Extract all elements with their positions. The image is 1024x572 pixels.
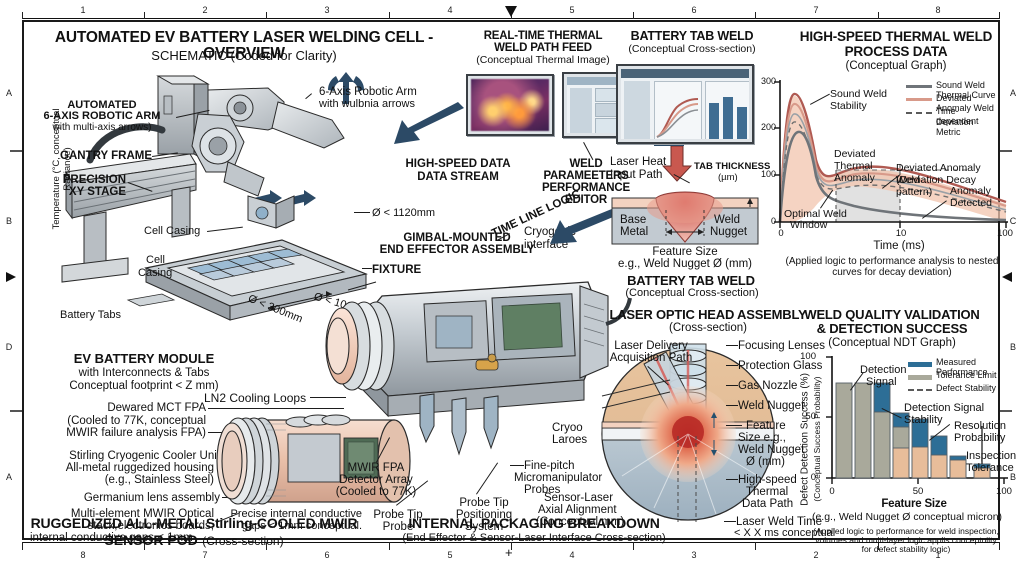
label-laser-heat-1: Laser Heat: [610, 156, 666, 168]
ruler-bottom-mark-5: 5: [437, 550, 463, 560]
ruler-bottom-mark-3: 3: [681, 550, 707, 560]
quality-chart-xlabel: Feature Size: [814, 498, 1014, 510]
callout-probe-tip-2: Probe Tip: [436, 497, 532, 509]
quality-x-tick-0: 0: [825, 486, 839, 497]
sensor-pod-title-l1: RUGGEDIZED ALL-METAL Stirling-COOLED MWI…: [24, 516, 364, 531]
internal-packaging-subtitle: (End Effector & Sensor-Laser Interface C…: [354, 533, 714, 545]
label-thermal: Thermal: [746, 486, 788, 498]
callout-laroes: Laroes: [552, 434, 587, 446]
quality-chart-xlabel-sub: (e.g., Weld Nugget Ø conceptual micron): [794, 511, 1020, 523]
ev-battery-module-line1: with Interconnects & Tabs: [48, 367, 240, 379]
tab-weld-data-screen[interactable]: [616, 64, 754, 144]
thermal-legend-swatch-sound: [906, 85, 932, 88]
thermal-legend-swatch-timedep: [906, 112, 932, 114]
internal-packaging-title: INTERNAL PACKAGING BREAKDOWN: [364, 516, 704, 531]
thermal-x-tick-10: 10: [892, 228, 910, 239]
label-laser-delivery-1: Laser Delivery: [598, 340, 704, 352]
quality-anno-inspection-1: Inspection: [966, 450, 1016, 462]
ruler-top-mark-1: 1: [70, 5, 96, 15]
quality-chart-caption-l3: for defect stability logic): [786, 544, 1024, 554]
label-feature-size-1: Feature Size: [610, 246, 760, 258]
tab-weld-caption-title: BATTERY TAB WELD: [608, 274, 774, 288]
ruler-left-mark-A1: A: [0, 88, 18, 98]
tab-weld-screen-content: [621, 69, 749, 139]
ruler-top-mark-3: 3: [314, 5, 340, 15]
quality-legend-swatch-tolerance: [908, 375, 932, 380]
thermal-y-tick-200: 200: [754, 122, 776, 132]
label-nugget-diameter: Ø (mm): [746, 456, 785, 468]
callout-stirling-cooler: Stirling Cryogenic Cooler Unit: [24, 450, 220, 462]
center-marker-bottom: +: [505, 548, 513, 558]
ruler-top-mark-5: 5: [559, 5, 585, 15]
label-base-metal-1: Base: [620, 214, 646, 226]
thermal-anno-stability: Stability: [830, 100, 867, 112]
thermal-legend-swatch-deviated: [906, 98, 932, 101]
callout-cell-casing-1: Cell Casing: [144, 226, 200, 238]
thermal-legend-timedep-2: Deviation Metric: [936, 117, 998, 137]
leader-protection-glass: [726, 365, 738, 366]
label-data-path: Data Path: [742, 498, 793, 510]
quality-chart-title-l1: WELD QUALITY VALIDATION: [784, 308, 1000, 322]
thermal-anno-deviated: Deviated: [834, 148, 875, 160]
tab-weld-title: BATTERY TAB WELD: [608, 30, 776, 43]
callout-micromanipulator: Micromanipulator: [514, 472, 602, 484]
ruler-bottom-mark-6: 6: [314, 550, 340, 560]
callout-gantry-frame: GANTRY FRAME: [60, 150, 152, 162]
callout-all-metal-housing: All-metal ruggedized housing: [24, 462, 214, 474]
thermal-feed-title-l1: REAL-TIME THERMAL: [464, 30, 622, 42]
quality-x-tick-100: 100: [993, 486, 1015, 497]
label-size-eg: Size e.g.,: [738, 432, 786, 444]
quality-anno-detection-1: Detection: [860, 364, 906, 376]
sensor-pod-title-l2-sub: (Cross-section): [202, 534, 283, 548]
quality-y-tick-100: 100: [794, 351, 816, 362]
leader-gas-nozzle: [726, 385, 738, 386]
ruler-bottom-mark-4: 4: [559, 550, 585, 560]
ruler-left-mark-B: B: [0, 216, 18, 226]
leader-focusing-lenses: [726, 345, 738, 346]
callout-fine-pitch: Fine-pitch: [524, 460, 575, 472]
quality-chart-subtitle: (Conceptual NDT Graph): [784, 337, 1000, 349]
thermal-y-tick-300: 300: [754, 76, 776, 86]
thermal-x-tick-100: 100: [994, 228, 1016, 239]
leader-weld-nugget-optic: [726, 405, 738, 406]
leader-laser-weld-time: [724, 521, 736, 522]
drawing-sheet: 1 2 3 4 5 6 7 8 8 7 6 5 4 3 2 1 + A B D …: [0, 0, 1024, 572]
ruler-top: 1 2 3 4 5 6 7 8: [22, 0, 1000, 20]
thermal-chart-title-l2: PROCESS DATA: [792, 45, 1000, 59]
callout-stainless-steel: (e.g., Stainless Steel): [24, 474, 214, 486]
thermal-chart-title-l1: HIGH-SPEED THERMAL WELD: [792, 30, 1000, 44]
ruler-left-mark-D: D: [0, 342, 18, 352]
label-base-metal-2: Metal: [620, 226, 648, 238]
thermal-chart-caption-l2: curves for decay deviation): [764, 267, 1020, 278]
center-marker-left: [6, 272, 16, 282]
thermal-anno-thermal: Thermal: [834, 160, 873, 172]
tab-weld-subtitle: (Conceptual Cross-section): [598, 44, 786, 55]
ruler-top-mark-2: 2: [192, 5, 218, 15]
label-weld-nugget-2: Nugget: [710, 226, 747, 238]
quality-y-tick-50: 50: [794, 411, 816, 422]
thermal-feed-subtitle: (Conceptual Thermal Image): [456, 55, 630, 66]
quality-legend-tolerance: Tolerance Limit: [936, 370, 997, 380]
callout-battery-tabs: Battery Tabs: [60, 310, 121, 322]
ruler-right-mark-B1: B: [1004, 342, 1022, 352]
ruler-bottom-mark-8: 8: [70, 550, 96, 560]
quality-anno-resolution-2: Probability: [954, 432, 1005, 444]
quality-anno-resolution-1: Resolution: [954, 420, 1006, 432]
label-weld-nugget-2-optic: Weld Nugget: [738, 444, 804, 456]
callout-detector-array: Detector Array: [316, 474, 436, 486]
label-laser-delivery-2: Acquisition Path: [598, 352, 704, 364]
callout-dewared-mct-fpa: Dewared MCT FPA: [58, 402, 206, 414]
callout-germanium-lens: Germanium lens assembly: [24, 492, 220, 504]
quality-chart-ylabel: Defect Detection Success (%): [800, 360, 811, 520]
diagram-frame: AUTOMATED EV BATTERY LASER WELDING CELL …: [22, 20, 1000, 540]
thermal-anno-optimal-2: Window: [790, 219, 827, 231]
ruler-bottom-mark-7: 7: [192, 550, 218, 560]
quality-legend-defect: Defect Stability: [936, 383, 996, 393]
quality-legend-swatch-measured: [908, 362, 932, 367]
ruler-top-mark-8: 8: [925, 5, 951, 15]
ruler-top-mark-4: 4: [437, 5, 463, 15]
quality-anno-detection-2: Signal: [866, 376, 897, 388]
callout-mwir-fpa: MWIR FPA: [316, 462, 436, 474]
callout-cell: Cell: [146, 255, 165, 267]
overview-subtitle: SCHEMATIC (Coded for Clarity): [28, 49, 460, 63]
ruler-left-mark-A2: A: [0, 472, 18, 482]
thermal-anno-anomaly: Anomaly: [834, 172, 875, 184]
callout-cryoo: Cryoo: [552, 422, 583, 434]
thermal-anno-detected-1: Anomaly: [950, 185, 991, 197]
thermal-anno-sound-weld: Sound Weld: [830, 88, 887, 100]
thermal-chart-subtitle: (Conceptual Graph): [792, 60, 1000, 72]
quality-chart-title-l2: & DETECTION SUCCESS: [784, 322, 1000, 336]
leader-high-speed-path: [726, 479, 738, 480]
ruler-left: A B D A: [0, 20, 22, 540]
thermal-y-tick-100: 100: [754, 169, 776, 179]
thermal-chart-xlabel: Time (ms): [784, 240, 1014, 252]
ruler-top-mark-6: 6: [681, 5, 707, 15]
label-high-speed: High-speed: [738, 474, 797, 486]
center-marker-top: [505, 6, 517, 17]
label-sensor-laser-1: Sensor-Laser: [544, 492, 613, 504]
quality-x-tick-50: 50: [911, 486, 925, 497]
thermal-anno-detected-2: Detected: [950, 197, 992, 209]
leader-feature-size-optic: [726, 425, 742, 426]
callout-casing: Casing: [138, 268, 172, 280]
sensor-pod-title-l2: SENSOR POD: [104, 532, 197, 548]
callout-mwir-failure: MWIR failure analysis FPA): [38, 427, 206, 439]
thermal-chart-caption-l1: (Applied logic to performance analysis t…: [764, 256, 1020, 267]
label-gas-nozzle: Gas Nozzle: [738, 380, 797, 392]
thermal-y-tick-0: 0: [754, 216, 776, 226]
thermal-chart-ylabel: Temperature (°C, conceptual Radiance): [51, 94, 73, 244]
thermal-x-tick-0: 0: [774, 228, 788, 239]
tab-weld-caption-sub: (Conceptual Cross-section): [598, 288, 786, 300]
label-feature-size-2: e.g., Weld Nugget Ø (mm): [602, 258, 768, 270]
quality-y-tick-0: 0: [794, 472, 816, 483]
quality-legend-swatch-defect: [908, 389, 932, 391]
label-feature: Feature: [746, 420, 786, 432]
label-weld-nugget-1: Weld: [714, 214, 740, 226]
ev-battery-module-title: EV BATTERY MODULE: [48, 352, 240, 366]
ruler-top-mark-7: 7: [803, 5, 829, 15]
leader-fine-pitch: [510, 465, 524, 466]
quality-anno-inspection-2: Tolerance: [966, 462, 1014, 474]
callout-cooled-77k: (Cooled to 77K, conceptual: [38, 415, 206, 427]
